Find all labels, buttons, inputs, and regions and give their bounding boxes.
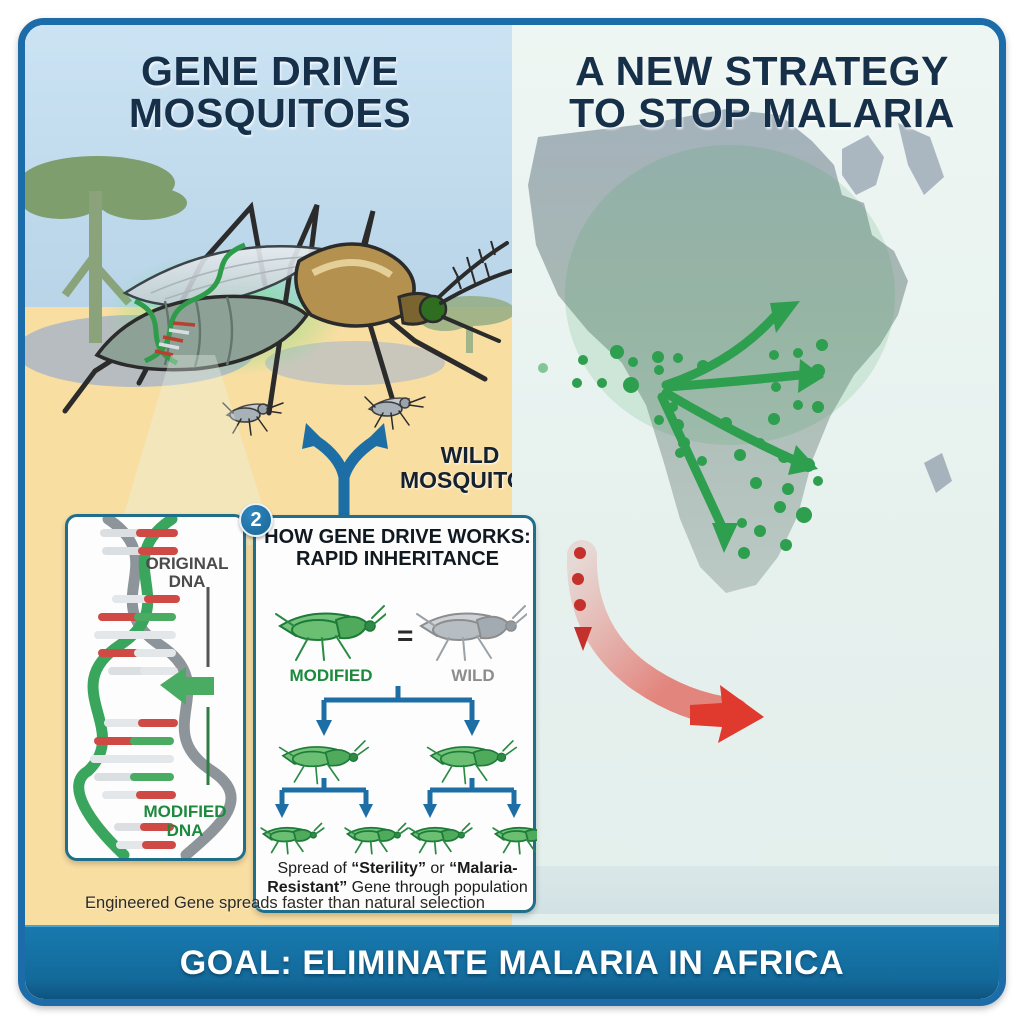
wild-mosquito-icon <box>415 598 527 662</box>
original-dna-label: ORIGINAL DNA <box>139 555 235 592</box>
modified-dna-label: MODIFIED DNA <box>133 803 237 840</box>
dna-comparison-card: ORIGINAL DNA MODIFIED DNA <box>65 514 246 861</box>
title-right-line2: TO STOP MALARIA <box>569 90 955 136</box>
modified-mosquito-icon <box>274 598 386 662</box>
wild-label-line1: WILD <box>441 442 500 468</box>
goal-banner: GOAL: ELIMINATE MALARIA IN AFRICA <box>25 925 999 999</box>
equals-symbol: = <box>397 620 413 652</box>
inheritance-card-title: HOW GENE DRIVE WORKS: RAPID INHERITANCE <box>262 526 533 570</box>
infographic-poster: WILD MOSQUITOES <box>0 0 1024 1024</box>
title-left-line1: GENE DRIVE <box>141 48 399 94</box>
gene-drive-inheritance-card: HOW GENE DRIVE WORKS: RAPID INHERITANCE … <box>253 515 536 913</box>
page-title-right: A NEW STRATEGY TO STOP MALARIA <box>525 51 999 135</box>
modified-label: MODIFIED <box>276 666 386 686</box>
step-badge-2: 2 <box>239 503 273 537</box>
goal-banner-text: GOAL: ELIMINATE MALARIA IN AFRICA <box>180 944 844 983</box>
left-panel-caption: Engineered Gene spreads faster than natu… <box>33 894 537 913</box>
spread-note: Spread of “Sterility” or “Malaria-Resist… <box>266 859 529 898</box>
title-left-line2: MOSQUITOES <box>129 90 411 136</box>
transmission-arrow-icon <box>512 535 812 785</box>
poster-frame: WILD MOSQUITOES <box>18 18 1006 1006</box>
title-right-line1: A NEW STRATEGY <box>575 48 949 94</box>
modified-vs-wild-row: = MODIFIED WILD <box>264 596 531 692</box>
wild-label: WILD <box>423 666 523 686</box>
generation-tree <box>258 686 537 886</box>
right-panel: TARGET: Anopheles gambiae MALARIA TRANSM… <box>512 25 999 999</box>
ground-shadow-strip <box>512 866 999 914</box>
page-title-left: GENE DRIVE MOSQUITOES <box>35 51 505 135</box>
